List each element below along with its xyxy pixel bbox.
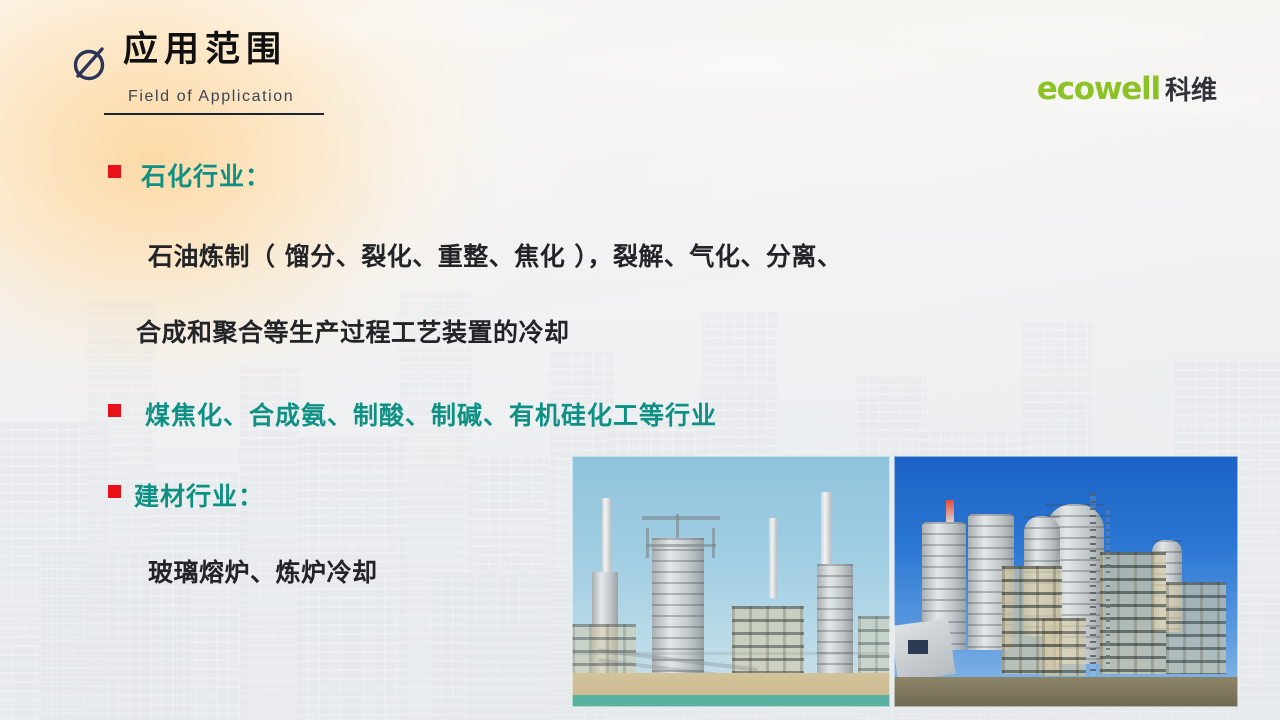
photo-left-border (572, 456, 890, 707)
petrochemical-refinery-photo (572, 456, 890, 707)
bullet-text-1: 石油炼制（ 馏分、裂化、重整、焦化 ），裂解、气化、分离、 (148, 237, 842, 273)
bullet-text-5: 玻璃熔炉、炼炉冷却 (148, 553, 378, 589)
bullet-text-4: 建材行业： (134, 477, 264, 513)
cement-plant-photo (894, 456, 1238, 707)
bullet-text-0: 石化行业： (141, 157, 271, 193)
bullet-text-2: 合成和聚合等生产过程工艺装置的冷却 (136, 313, 570, 349)
photo-right-border (894, 456, 1238, 707)
slide-root: 应用范围 Field of Application ecowell 科维 石化行… (0, 0, 1280, 720)
bullet-marker-3 (108, 404, 121, 417)
bullet-marker-0 (108, 165, 121, 178)
bullet-marker-4 (108, 485, 121, 498)
bullet-text-3: 煤焦化、合成氨、制酸、制碱、有机硅化工等行业 (145, 396, 717, 432)
